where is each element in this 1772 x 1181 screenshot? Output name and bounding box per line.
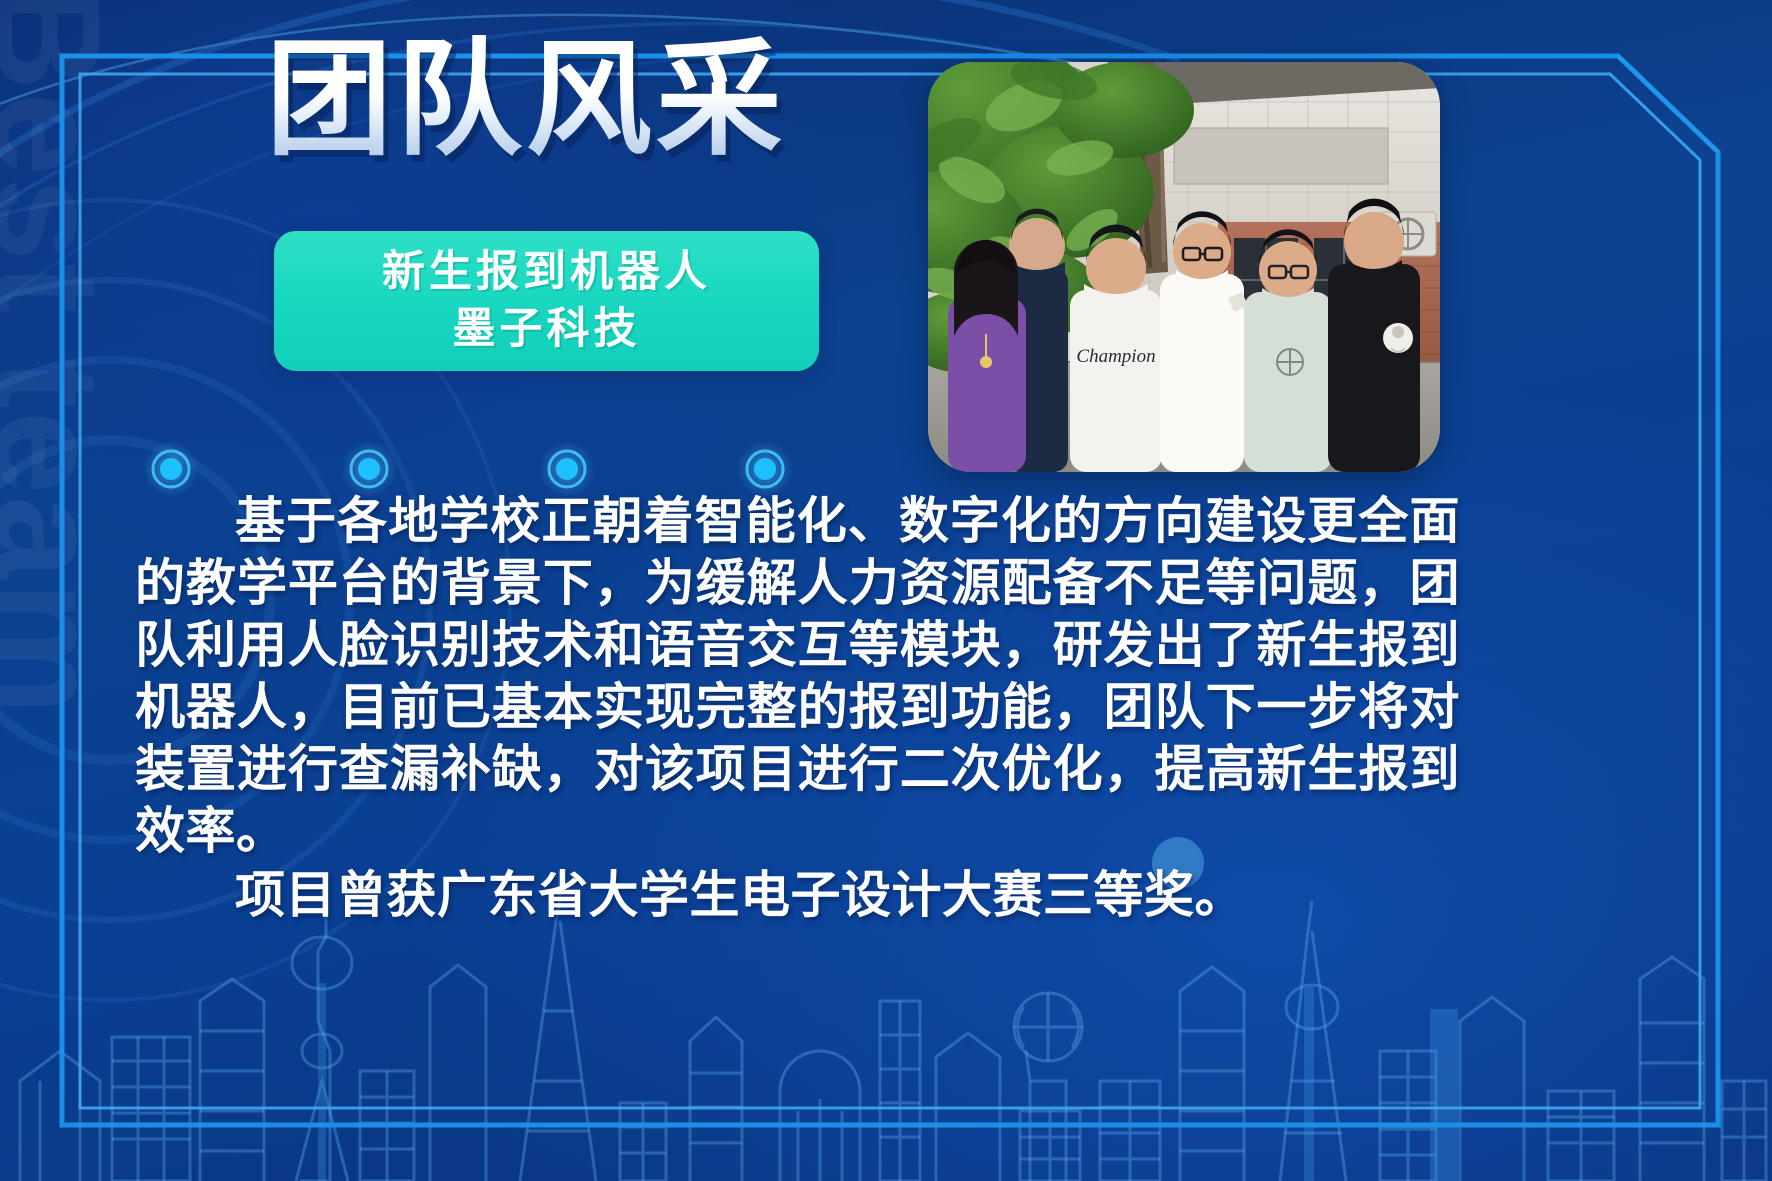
glow-dot-icon — [145, 441, 199, 497]
badge-line-secondary: 墨子科技 — [453, 302, 641, 357]
paragraph-award: 项目曾获广东省大学生电子设计大赛三等奖。 — [135, 864, 1460, 926]
svg-text:Champion: Champion — [1076, 346, 1155, 367]
team-photo-illustration: Champion — [928, 62, 1440, 472]
badge-line-primary: 新生报到机器人 — [382, 245, 711, 300]
team-photo: Champion — [928, 62, 1440, 472]
poster-canvas: Best team 团队风采 新生报到机器人 墨子科技 — [0, 0, 1772, 1181]
paragraph-description: 基于各地学校正朝着智能化、数字化的方向建设更全面的教学平台的背景下，为缓解人力资… — [135, 490, 1460, 862]
project-name-badge: 新生报到机器人 墨子科技 — [274, 231, 819, 371]
glow-dot-icon — [341, 441, 397, 497]
glow-dot-icon — [737, 441, 793, 497]
body-text-block: 基于各地学校正朝着智能化、数字化的方向建设更全面的教学平台的背景下，为缓解人力资… — [135, 490, 1460, 928]
glow-dot-icon — [539, 441, 595, 497]
page-title: 团队风采 — [266, 28, 786, 173]
